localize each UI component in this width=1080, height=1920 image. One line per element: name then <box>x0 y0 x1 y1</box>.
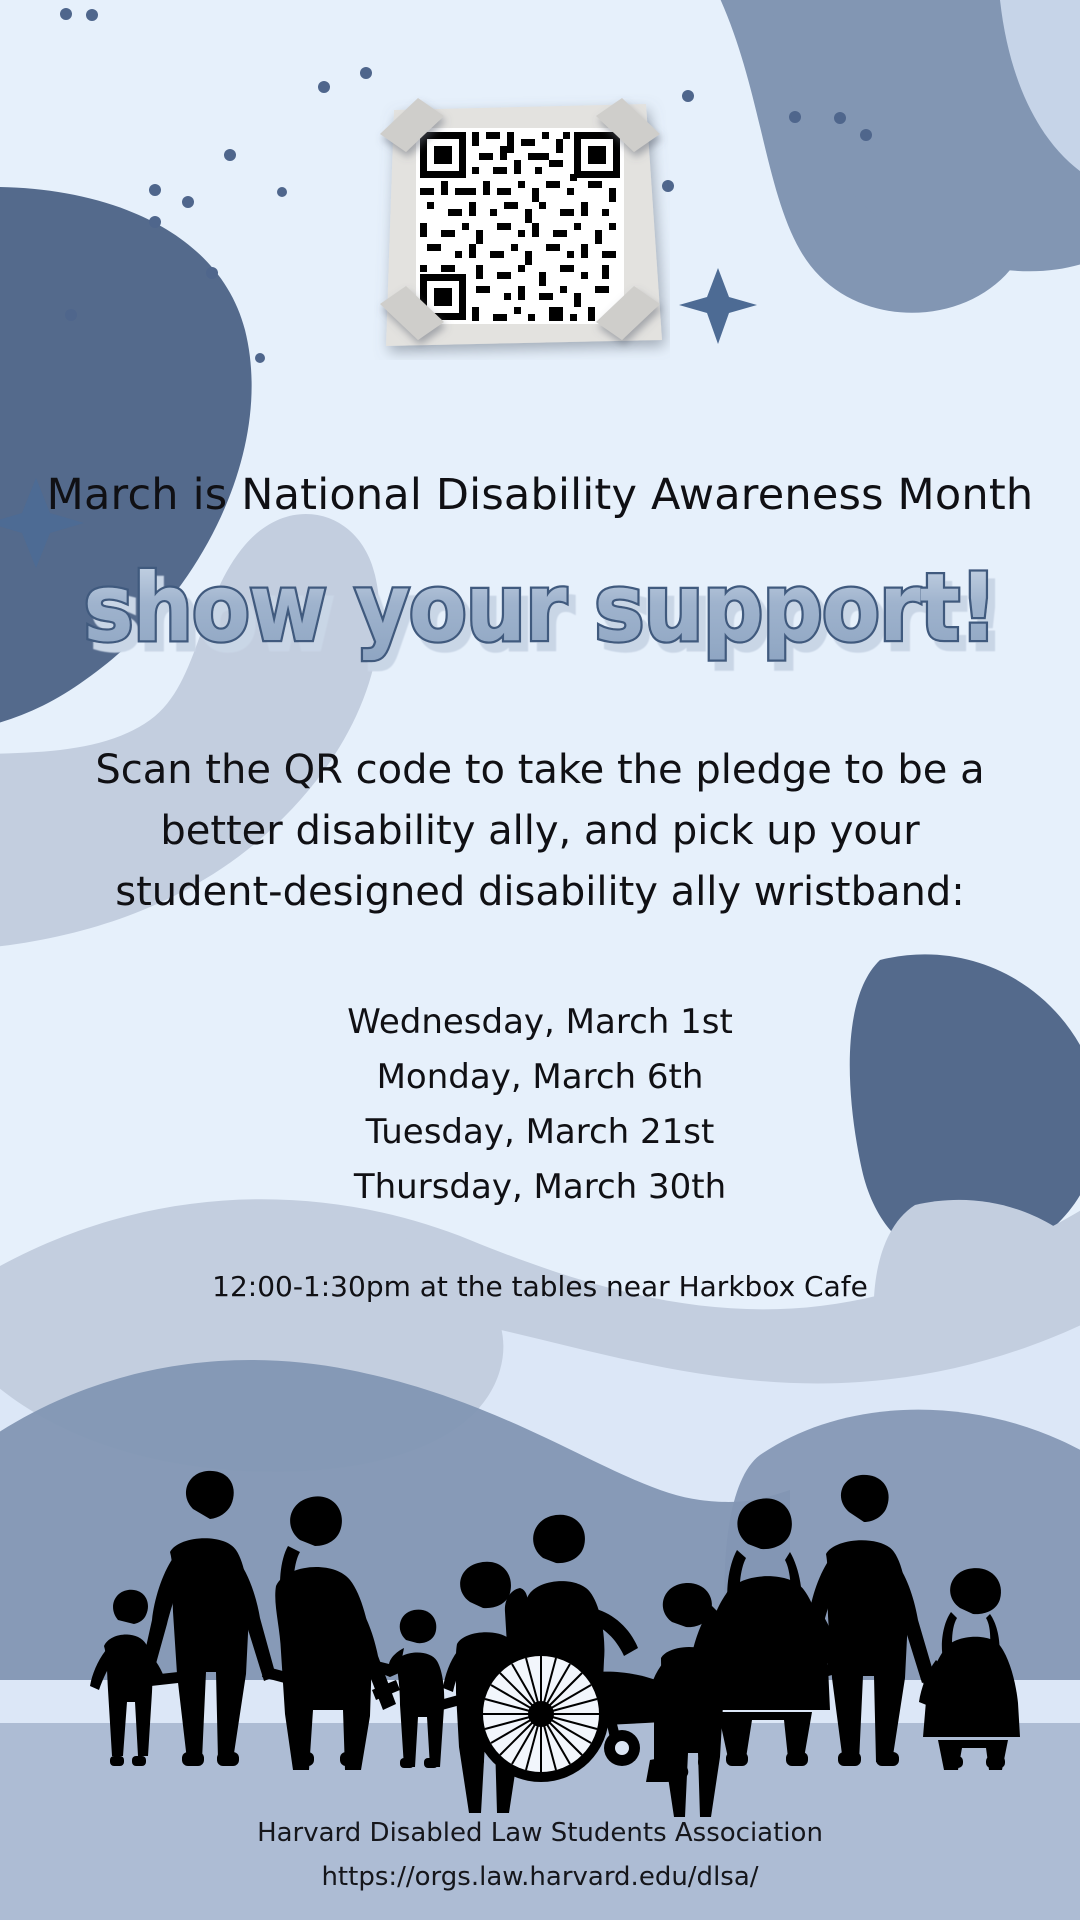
body-line-2: better disability ally, and pick up your <box>60 801 1020 862</box>
organization-name: Harvard Disabled Law Students Associatio… <box>0 1818 1080 1848</box>
body-copy: Scan the QR code to take the pledge to b… <box>0 740 1080 922</box>
qr-code-icon[interactable] <box>370 90 670 360</box>
body-line-3: student-designed disability ally wristba… <box>60 862 1020 923</box>
date-item: Wednesday, March 1st <box>0 995 1080 1050</box>
qr-code-block[interactable] <box>370 90 670 360</box>
headline-label: show your support! <box>83 554 996 663</box>
blob-lower-right <box>724 1410 1080 1680</box>
date-item: Monday, March 6th <box>0 1050 1080 1105</box>
page-headline: show your support! <box>0 552 1080 672</box>
body-line-1: Scan the QR code to take the pledge to b… <box>60 740 1020 801</box>
poster-canvas: March is National Disability Awareness M… <box>0 0 1080 1920</box>
date-item: Thursday, March 30th <box>0 1160 1080 1215</box>
date-list: Wednesday, March 1st Monday, March 6th T… <box>0 995 1080 1215</box>
date-item: Tuesday, March 21st <box>0 1105 1080 1160</box>
time-location: 12:00-1:30pm at the tables near Harkbox … <box>0 1270 1080 1303</box>
organization-url[interactable]: https://orgs.law.harvard.edu/dlsa/ <box>0 1862 1080 1892</box>
page-kicker: March is National Disability Awareness M… <box>0 470 1080 520</box>
